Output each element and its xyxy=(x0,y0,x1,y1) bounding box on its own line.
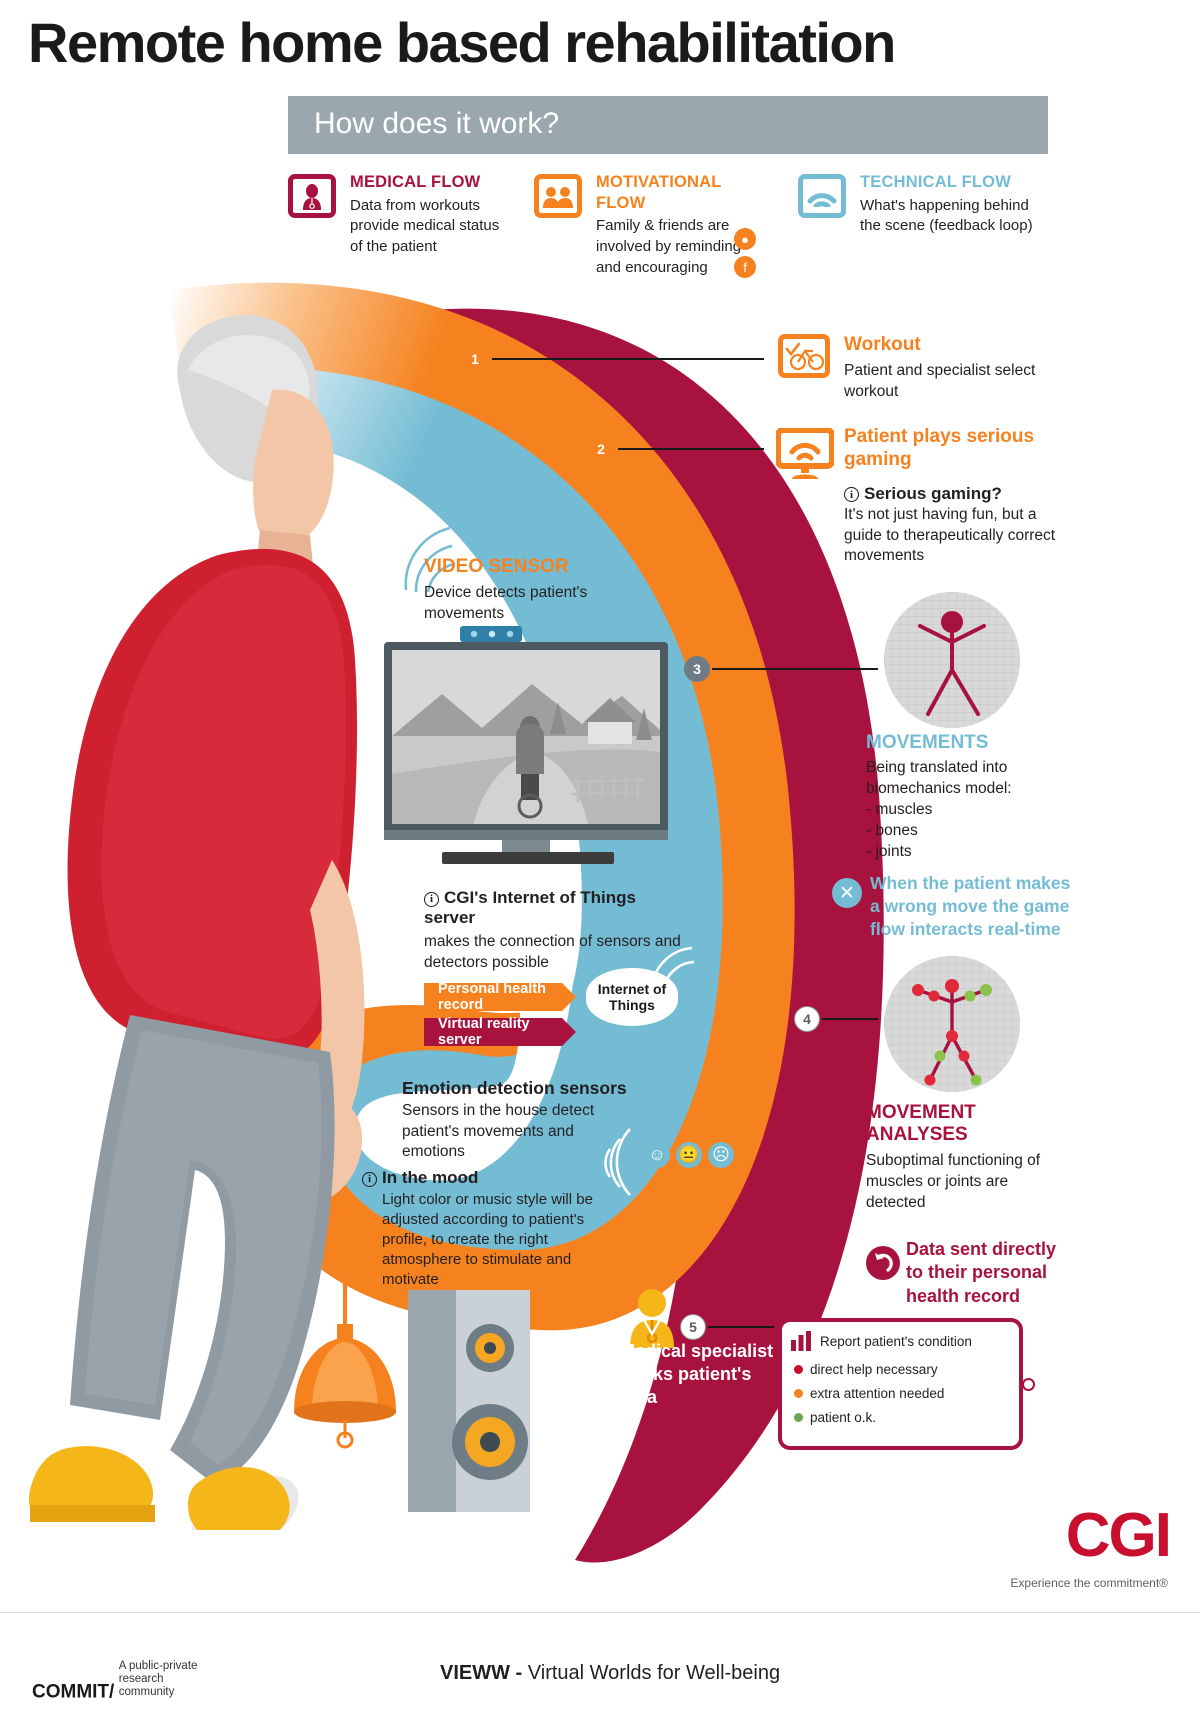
legend-item-extra-attention: extra attention needed xyxy=(794,1386,1019,1401)
step-marker-1: 1 xyxy=(462,346,488,372)
movements-bullet-2: - joints xyxy=(866,842,1066,863)
vieww-credit: VIEWW - Virtual Worlds for Well-being xyxy=(440,1662,780,1685)
movement-analyses-photo xyxy=(884,956,1020,1092)
legend-item-direct-help: direct help necessary xyxy=(794,1362,1019,1377)
step-marker-3: 3 xyxy=(684,656,710,682)
legend-medical-body: Data from workouts provide medical statu… xyxy=(350,196,515,258)
medical-person-screen-icon xyxy=(288,174,336,218)
cgi-logo: CGI xyxy=(1066,1500,1170,1571)
legend-motivational-title: MOTIVATIONAL FLOW xyxy=(596,172,761,213)
legend-technical-title: TECHNICAL FLOW xyxy=(860,172,1035,193)
tablet-home-button[interactable] xyxy=(1022,1378,1035,1391)
mood-title: In the mood xyxy=(382,1168,478,1187)
legend-technical-body: What's happening behind the scene (feedb… xyxy=(860,196,1035,237)
info-icon: i xyxy=(424,892,439,907)
movement-analyses-body: Suboptimal functioning of muscles or joi… xyxy=(866,1151,1066,1214)
bicycle-checklist-icon xyxy=(778,334,830,378)
wrong-move-text: When the patient makes a wrong move the … xyxy=(870,872,1082,940)
smiley-neutral-icon: 😐 xyxy=(676,1142,702,1168)
doctor-icon xyxy=(628,1288,676,1348)
legend-technical-flow: TECHNICAL FLOW What's happening behind t… xyxy=(798,172,1035,237)
cgi-tagline: Experience the commitment® xyxy=(1010,1576,1168,1590)
person-glyph xyxy=(301,184,323,210)
leader-line-5 xyxy=(708,1326,774,1328)
bar-chart-icon xyxy=(790,1331,812,1351)
status-dot-red xyxy=(794,1365,803,1374)
x-circle-icon: ✕ xyxy=(832,878,862,908)
legend-label-direct-help: direct help necessary xyxy=(810,1362,938,1377)
serious-gaming-title: Serious gaming? xyxy=(864,484,1002,503)
movements-photo xyxy=(884,592,1020,728)
vieww-name: VIEWW - xyxy=(440,1662,522,1684)
legend-medical-title: MEDICAL FLOW xyxy=(350,172,515,193)
specialist-text: Medical specialist tracks patient's data xyxy=(620,1340,780,1409)
twitter-icon[interactable]: ● xyxy=(734,228,756,250)
tablet-header-row: Report patient's condition xyxy=(782,1322,1019,1355)
tag-personal-health-record[interactable]: Personal health record xyxy=(424,983,562,1011)
status-dot-orange xyxy=(794,1389,803,1398)
wrong-move-callout: When the patient makes a wrong move the … xyxy=(870,872,1082,940)
data-sent-text: Data sent directly to their personal hea… xyxy=(906,1238,1066,1308)
two-people-screen-icon xyxy=(534,174,582,218)
subtitle-banner: How does it work? xyxy=(288,96,1048,154)
commit-sub: A public-private research community xyxy=(119,1660,211,1700)
step-marker-4: 4 xyxy=(794,1006,820,1032)
iot-server-title: CGI's Internet of Things server xyxy=(424,888,636,927)
tablet-header-text: Report patient's condition xyxy=(820,1334,972,1349)
subtitle-text: How does it work? xyxy=(288,96,1048,141)
footer: CGI Experience the commitment® COMMIT/ A… xyxy=(0,1612,1200,1714)
step-marker-2: 2 xyxy=(588,436,614,462)
info-icon: i xyxy=(844,487,859,502)
emotion-title: Emotion detection sensors xyxy=(402,1078,632,1099)
movements-callout: MOVEMENTS Being translated into biomecha… xyxy=(866,732,1066,863)
serious-gaming-body: It's not just having fun, but a guide to… xyxy=(844,505,1062,568)
serious-gaming-info: iSerious gaming? It's not just having fu… xyxy=(844,484,1062,568)
wifi-glyph xyxy=(807,187,837,207)
video-sensor-title: VIDEO SENSOR xyxy=(424,556,614,579)
mood-heading: iIn the mood xyxy=(362,1168,612,1188)
workout-callout: Workout Patient and specialist select wo… xyxy=(844,334,1054,403)
status-dot-green xyxy=(794,1413,803,1422)
leader-line-4 xyxy=(822,1018,878,1020)
gaming-callout: Patient plays serious gaming iSerious ga… xyxy=(844,426,1062,567)
workout-title: Workout xyxy=(844,334,1054,357)
step-marker-5: 5 xyxy=(680,1314,706,1340)
commit-name: COMMIT/ xyxy=(32,1681,114,1702)
television-screen xyxy=(382,624,670,872)
smiley-happy-icon: ☺ xyxy=(644,1142,670,1168)
iot-server-heading: iCGI's Internet of Things server xyxy=(424,888,684,928)
leader-line-1 xyxy=(492,358,764,360)
legend-label-patient-ok: patient o.k. xyxy=(810,1410,876,1425)
internet-of-things-bubble: Internet of Things xyxy=(586,968,678,1026)
tag-virtual-reality-server[interactable]: Virtual reality server xyxy=(424,1018,562,1046)
footer-divider xyxy=(0,1612,1200,1613)
legend-medical-flow: MEDICAL FLOW Data from workouts provide … xyxy=(288,172,515,258)
speaker-illustration xyxy=(408,1290,530,1512)
legend-item-patient-ok: patient o.k. xyxy=(794,1410,1019,1425)
leader-line-2 xyxy=(618,448,764,450)
iot-server-body: makes the connection of sensors and dete… xyxy=(424,932,684,974)
mood-body: Light color or music style will be adjus… xyxy=(382,1190,612,1290)
wifi-screen-icon xyxy=(798,174,846,218)
movements-body: Being translated into biomechanics model… xyxy=(866,758,1066,800)
commit-credit: COMMIT/ A public-private research commun… xyxy=(32,1660,211,1703)
info-icon: i xyxy=(362,1172,377,1187)
legend-label-extra-attention: extra attention needed xyxy=(810,1386,944,1401)
iot-server-callout: iCGI's Internet of Things server makes t… xyxy=(424,888,684,974)
movements-bullet-0: - muscles xyxy=(866,800,1066,821)
vieww-sub: Virtual Worlds for Well-being xyxy=(528,1662,780,1684)
movements-bullet-1: - bones xyxy=(866,821,1066,842)
monitor-wifi-icon xyxy=(776,428,834,480)
tablet-report[interactable]: Report patient's condition direct help n… xyxy=(778,1318,1023,1450)
workout-body: Patient and specialist select workout xyxy=(844,361,1054,403)
gaming-title: Patient plays serious gaming xyxy=(844,426,1062,472)
return-arrow-icon xyxy=(866,1246,900,1280)
video-sensor-body: Device detects patient's movements xyxy=(424,583,614,625)
two-people-glyph xyxy=(543,186,573,208)
data-sent-callout: Data sent directly to their personal hea… xyxy=(906,1238,1066,1308)
video-sensor-callout: VIDEO SENSOR Device detects patient's mo… xyxy=(424,556,614,625)
movements-title: MOVEMENTS xyxy=(866,732,1066,754)
lamp-illustration xyxy=(282,1280,408,1450)
page-title: Remote home based rehabilitation xyxy=(28,14,1068,73)
mood-callout: iIn the mood Light color or music style … xyxy=(362,1168,612,1290)
movement-analyses-title: MOVEMENT ANALYSES xyxy=(866,1102,1066,1147)
movement-analyses-callout: MOVEMENT ANALYSES Suboptimal functioning… xyxy=(866,1102,1066,1214)
smiley-sad-icon: ☹ xyxy=(708,1142,734,1168)
specialist-callout: Medical specialist tracks patient's data xyxy=(620,1340,780,1409)
leader-line-3 xyxy=(712,668,878,670)
